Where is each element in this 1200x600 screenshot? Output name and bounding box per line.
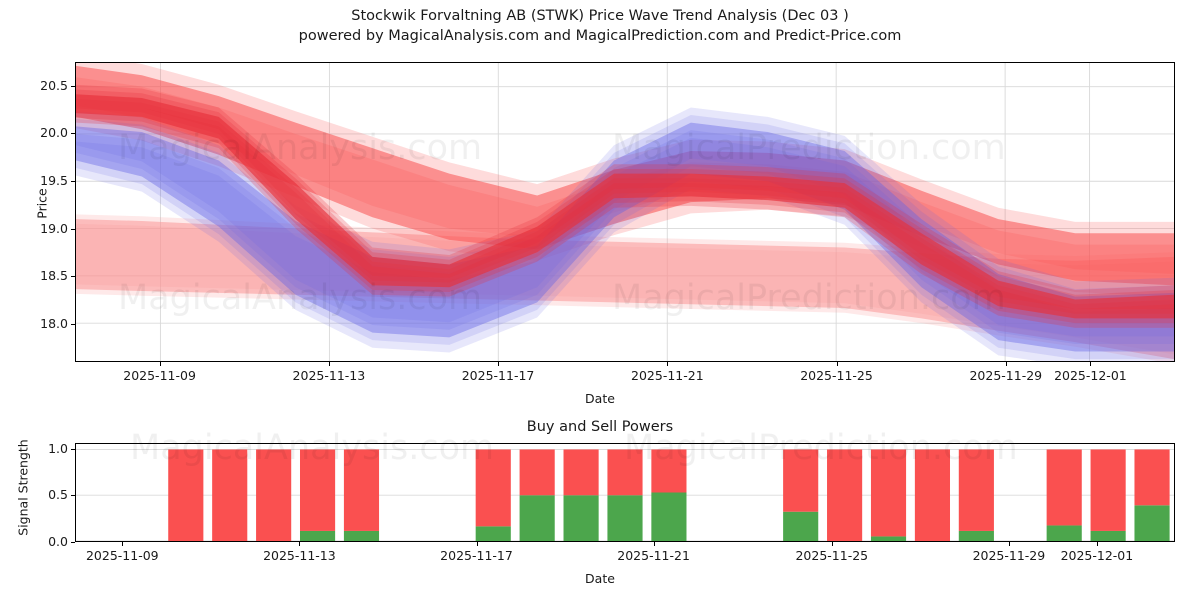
price-xtick-mark [160, 362, 161, 366]
price-xtick-label: 2025-12-01 [1035, 368, 1145, 383]
price-xtick-label: 2025-11-13 [274, 368, 384, 383]
powers-xtick-mark [477, 542, 478, 546]
price-xtick-label: 2025-11-21 [612, 368, 722, 383]
price-ytick-mark [71, 133, 75, 134]
price-xtick-mark [329, 362, 330, 366]
price-axis-label: Price [35, 154, 50, 254]
powers-xtick-label: 2025-11-25 [777, 548, 887, 563]
powers-xtick-label: 2025-11-17 [422, 548, 532, 563]
price-xtick-label: 2025-11-17 [443, 368, 553, 383]
price-xtick-mark [667, 362, 668, 366]
price-xtick-mark [1090, 362, 1091, 366]
powers-xtick-mark [299, 542, 300, 546]
powers-xtick-label: 2025-11-21 [599, 548, 709, 563]
price-chart-plot-area [75, 62, 1175, 362]
powers-x-axis-label: Date [0, 571, 1200, 586]
figure-root: Stockwik Forvaltning AB (STWK) Price Wav… [0, 0, 1200, 600]
price-ytick-mark [71, 181, 75, 182]
price-ytick-label: 18.5 [20, 268, 68, 283]
powers-xtick-label: 2025-11-09 [67, 548, 177, 563]
powers-ytick-mark [71, 542, 75, 543]
powers-ytick-label: 0.0 [20, 534, 68, 549]
price-wave-svg [76, 63, 1174, 361]
price-xtick-mark [1006, 362, 1007, 366]
price-ytick-mark [71, 229, 75, 230]
page-subtitle: powered by MagicalAnalysis.com and Magic… [0, 26, 1200, 46]
price-ytick-label: 19.0 [20, 221, 68, 236]
powers-ytick-mark [71, 449, 75, 450]
price-ytick-label: 19.5 [20, 173, 68, 188]
price-ytick-label: 20.0 [20, 125, 68, 140]
powers-xtick-mark [1009, 542, 1010, 546]
price-ytick-label: 18.0 [20, 316, 68, 331]
price-xtick-label: 2025-11-25 [782, 368, 892, 383]
powers-xtick-mark [832, 542, 833, 546]
page-title: Stockwik Forvaltning AB (STWK) Price Wav… [0, 6, 1200, 26]
price-x-axis-label: Date [0, 391, 1200, 406]
price-ytick-mark [71, 86, 75, 87]
powers-ytick-label: 1.0 [20, 441, 68, 456]
price-xtick-mark [837, 362, 838, 366]
powers-xtick-mark [654, 542, 655, 546]
powers-xtick-label: 2025-12-01 [1042, 548, 1152, 563]
powers-chart-title: Buy and Sell Powers [0, 419, 1200, 435]
powers-xtick-mark [1097, 542, 1098, 546]
price-ytick-mark [71, 276, 75, 277]
price-ytick-label: 20.5 [20, 78, 68, 93]
powers-ytick-label: 0.5 [20, 487, 68, 502]
chart-title-block: Stockwik Forvaltning AB (STWK) Price Wav… [0, 6, 1200, 46]
buy-sell-powers-svg [76, 444, 1174, 541]
price-xtick-label: 2025-11-09 [105, 368, 215, 383]
powers-xtick-mark [122, 542, 123, 546]
price-xtick-mark [498, 362, 499, 366]
powers-xtick-label: 2025-11-13 [244, 548, 354, 563]
powers-ytick-mark [71, 495, 75, 496]
price-ytick-mark [71, 324, 75, 325]
powers-chart-plot-area [75, 443, 1175, 542]
